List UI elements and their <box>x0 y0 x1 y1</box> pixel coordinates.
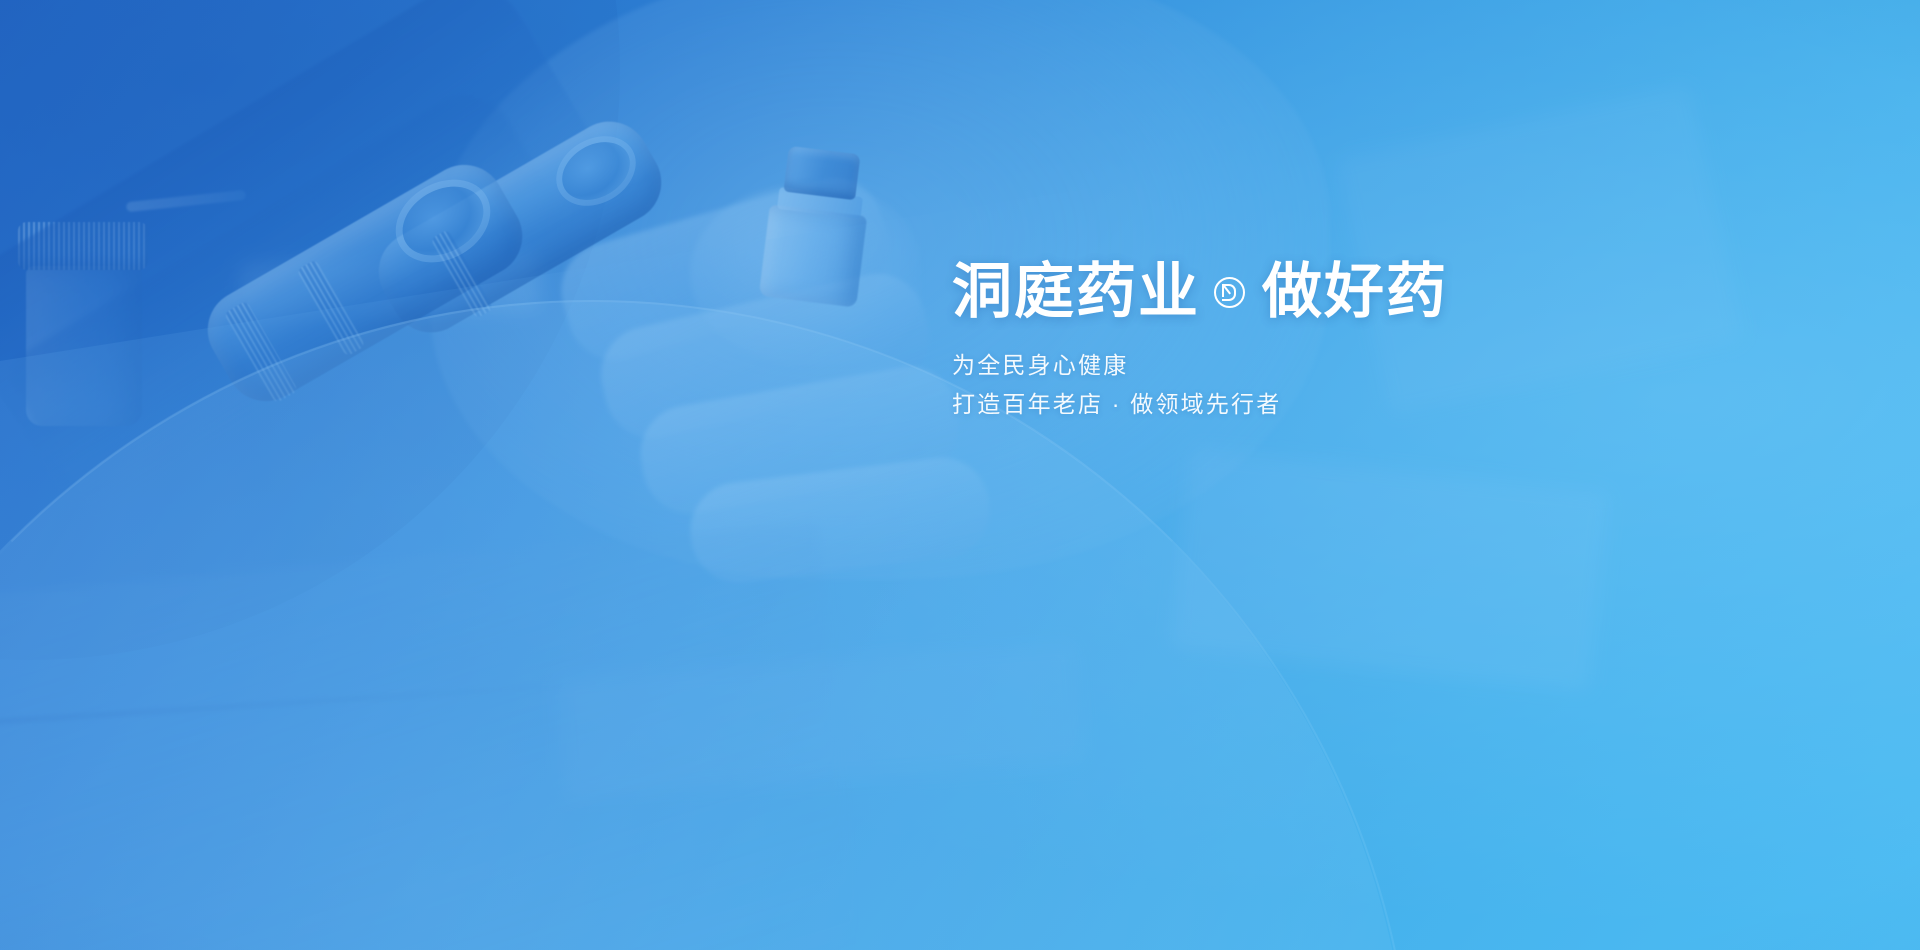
microscope-eyepiece-tube <box>364 107 676 347</box>
microscope-knurled-ring <box>224 300 299 403</box>
banner-subtitle-line-2: 打造百年老店 · 做领域先行者 <box>952 385 1712 424</box>
microscope-knurled-ring <box>430 229 493 319</box>
decorative-arc-small <box>0 0 620 660</box>
hand-finger-shape <box>685 452 995 588</box>
microscope-lens <box>552 130 640 211</box>
headline-slogan: 做好药 <box>1262 262 1448 322</box>
blue-duotone-overlay <box>0 0 1920 950</box>
banner-headline: 洞庭药业 做好药 <box>952 262 1712 322</box>
hand-finger-shape <box>633 359 967 521</box>
microscope-knurled-ring <box>296 259 365 357</box>
lab-bench-edge <box>0 681 600 726</box>
pipette-shape <box>126 190 246 212</box>
banner-subtitles: 为全民身心健康 打造百年老店 · 做领域先行者 <box>952 346 1712 423</box>
background-blur-shape <box>1171 449 1610 692</box>
brand-circle-d-icon <box>1214 277 1245 308</box>
microscope-lens <box>390 173 495 270</box>
headline-brand-name: 洞庭药业 <box>952 262 1200 322</box>
vignette-overlay <box>0 0 1920 950</box>
background-scene <box>0 0 1920 950</box>
medicine-vial-cap <box>783 146 860 200</box>
hand-finger-shape <box>550 167 900 371</box>
background-blur-shape <box>556 642 1083 798</box>
banner-subtitle-line-1: 为全民身心健康 <box>952 346 1712 385</box>
reagent-bottle-cap <box>18 222 148 270</box>
light-wash-overlay <box>0 0 1920 950</box>
lab-bench-surface <box>0 522 857 950</box>
medicine-vial-body <box>759 204 867 307</box>
microscope-arm <box>0 0 619 510</box>
banner-copy-block: 洞庭药业 做好药 为全民身心健康 打造百年老店 · 做领域先行者 <box>952 262 1712 423</box>
hero-banner: 洞庭药业 做好药 为全民身心健康 打造百年老店 · 做领域先行者 <box>0 0 1920 950</box>
medicine-vial-neck <box>777 187 863 219</box>
microscope-arm-shadow <box>2 77 575 520</box>
background-blur-shape <box>239 253 541 321</box>
hand-finger-shape <box>592 264 939 447</box>
reagent-bottle-body <box>26 266 142 426</box>
microscope-eyepiece-tube <box>193 150 537 415</box>
hand-thumb-shape <box>690 185 920 365</box>
